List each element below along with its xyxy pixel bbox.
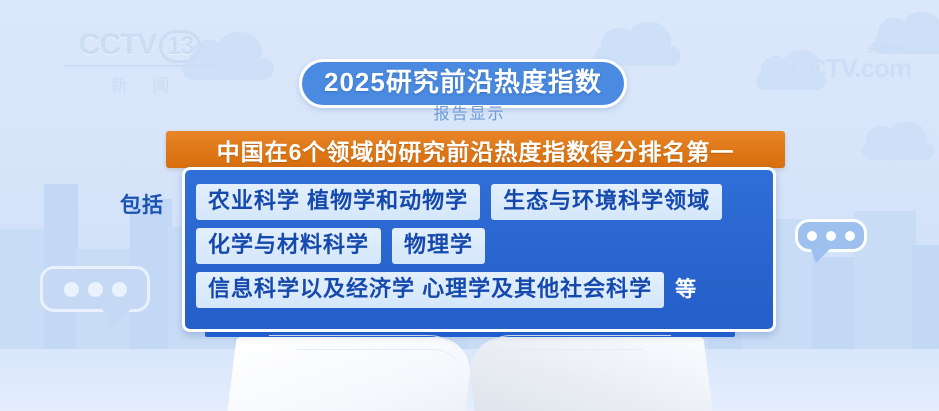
channel-number: 13 [159, 30, 201, 63]
open-book-graphic [0, 331, 939, 411]
broadcast-frame: CCTV13 新 闻 央视网 CCTV.com 202 [0, 0, 939, 411]
field-tag-label: 农业科学 植物学和动物学 [208, 188, 468, 214]
speech-bubble-icon [795, 219, 867, 252]
field-tag-label: 生态与环境科学领域 [503, 188, 710, 214]
field-tag: 化学与材料科学 [196, 228, 381, 264]
fields-panel: 农业科学 植物学和动物学 生态与环境科学领域 化学与材料科学 物理学 信息科学以… [182, 167, 776, 332]
channel-sub-label: 新 闻 [55, 71, 225, 96]
cctv13-channel-logo: CCTV13 新 闻 [55, 28, 225, 96]
page-title-text: 2025研究前沿热度指数 [324, 66, 602, 98]
fields-row: 农业科学 植物学和动物学 生态与环境科学领域 [196, 184, 762, 220]
field-tag: 生态与环境科学领域 [491, 184, 722, 220]
speech-bubble-icon [40, 266, 150, 312]
field-tag: 信息科学以及经济学 心理学及其他社会科学 [196, 272, 664, 308]
subtitle: 报告显示 [0, 100, 939, 124]
cctv-com-watermark: 央视网 CCTV.com [790, 44, 911, 81]
field-tag-label: 物理学 [404, 232, 473, 258]
etc-label: 等 [675, 277, 697, 303]
field-tag-label: 信息科学以及经济学 心理学及其他社会科学 [208, 276, 652, 302]
field-tag: 农业科学 植物学和动物学 [196, 184, 480, 220]
fields-row: 信息科学以及经济学 心理学及其他社会科学 等 [196, 272, 762, 308]
subtitle-text: 报告显示 [433, 106, 505, 123]
headline-banner: 中国在6个领域的研究前沿热度指数得分排名第一 [166, 131, 785, 168]
headline-text: 中国在6个领域的研究前沿热度指数得分排名第一 [217, 133, 735, 167]
watermark-url-label: CCTV.com [790, 55, 911, 81]
fields-row: 化学与材料科学 物理学 [196, 228, 762, 264]
logo-divider [65, 65, 215, 67]
field-tag: 物理学 [392, 228, 485, 264]
channel-logo-text: CCTV [79, 28, 157, 61]
includes-label: 包括 [120, 189, 164, 219]
field-tag-label: 化学与材料科学 [208, 232, 369, 258]
